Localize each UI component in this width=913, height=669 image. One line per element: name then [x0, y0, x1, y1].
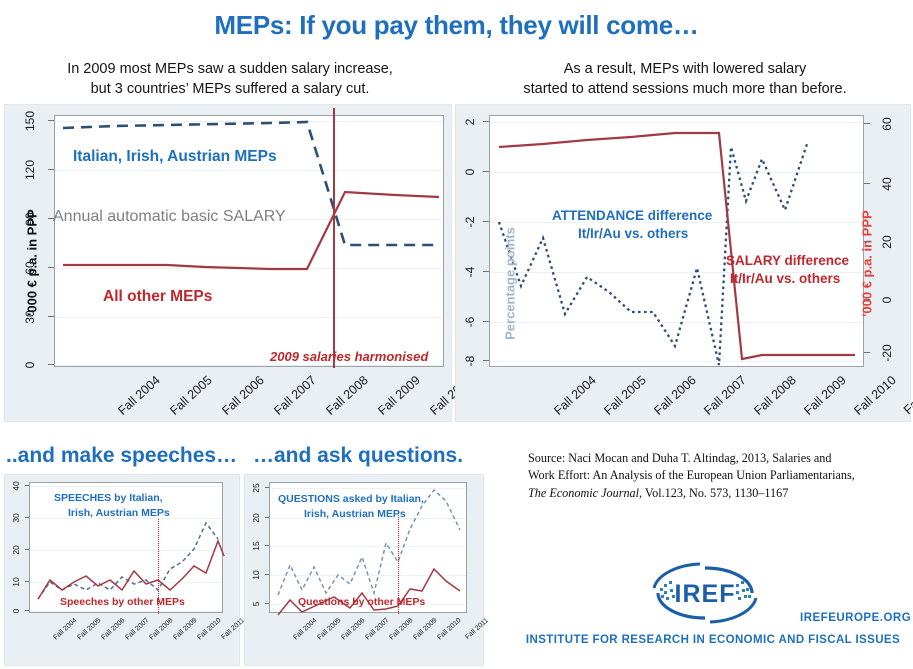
page-title: MEPs: If you pay them, they will come… [0, 10, 913, 41]
questions-xtick-4: Fall 2008 [388, 617, 414, 641]
attendance-plot-area: Percentage points '000 € p.a. in PPP ATT… [489, 115, 864, 367]
speeches-xtick-5: Fall 2009 [172, 617, 198, 641]
logo-wordmark: IREF [675, 580, 736, 608]
heading-speeches: ..and make speeches… [6, 444, 237, 468]
salary-xtick-0: Fall 2004 [115, 373, 163, 418]
source-line-1: Source: Naci Mocan and Duha T. Altindag,… [528, 450, 898, 467]
tickmark [864, 183, 870, 184]
subtitle-right: As a result, MEPs with lowered salary st… [470, 60, 900, 99]
source-citation: Source: Naci Mocan and Duha T. Altindag,… [528, 450, 898, 502]
series-line-speeches-other-meps [38, 541, 224, 599]
iref-logo[interactable]: IREF [640, 562, 770, 624]
attendance-xtick-4: Fall 2008 [751, 373, 799, 418]
annotation-questions-line1: QUESTIONS asked by Italian, [278, 493, 424, 505]
salary-plot-area: Italian, Irish, Austrian MEPs Annual aut… [54, 115, 444, 367]
attendance-right-axis-title: '000 € p.a. in PPP [860, 200, 875, 328]
tickmark [864, 352, 870, 353]
annotation-speeches-line2: Irish, Austrian MEPs [68, 507, 170, 519]
chart-panel-speeches: 40 30 20 10 0 SPEECHES by Italian, Irish… [4, 474, 240, 666]
series-line-italian-irish-austrian [63, 122, 439, 245]
speeches-xtick-3: Fall 2007 [124, 617, 150, 641]
series-line-all-other-meps [63, 192, 439, 269]
salary-xtick-3: Fall 2007 [271, 373, 319, 418]
annotation-all-other-meps: All other MEPs [103, 288, 212, 306]
speeches-xtick-2: Fall 2006 [100, 617, 126, 641]
logo-url[interactable]: IREFEUROPE.ORG [800, 612, 911, 624]
speeches-ytick-30: 30 [11, 509, 21, 527]
salary-diff-ytick-60: 60 [880, 111, 894, 137]
attendance-ytick--2: -2 [463, 209, 477, 235]
annotation-attendance-difference-line1: ATTENDANCE difference [552, 208, 712, 223]
tickmark [864, 241, 870, 242]
series-line-questions-italian-irish-austrian [278, 490, 460, 595]
speeches-plot-area: SPEECHES by Italian, Irish, Austrian MEP… [29, 482, 223, 613]
questions-ytick-5: 5 [251, 595, 261, 613]
speeches-ytick-0: 0 [11, 602, 21, 620]
salary-ytick-0: 0 [23, 352, 37, 378]
speeches-xtick-6: Fall 2010 [196, 617, 222, 641]
questions-plot-area: QUESTIONS asked by Italian, Irish, Austr… [269, 482, 467, 613]
speeches-ytick-10: 10 [11, 573, 21, 591]
annotation-speeches-line1: SPEECHES by Italian, [54, 492, 163, 504]
subtitle-left: In 2009 most MEPs saw a sudden salary in… [20, 60, 440, 99]
speeches-ytick-40: 40 [11, 477, 21, 495]
annotation-questions-line2: Irish, Austrian MEPs [304, 508, 406, 520]
salary-diff-ytick--20: -20 [880, 340, 894, 366]
attendance-ytick--8: -8 [463, 348, 477, 374]
attendance-ytick--4: -4 [463, 259, 477, 285]
annotation-italian-irish-austrian: Italian, Irish, Austrian MEPs [73, 148, 277, 166]
salary-ytick-30: 30 [23, 304, 37, 330]
speeches-xtick-4: Fall 2008 [148, 617, 174, 641]
speeches-xtick-7: Fall 2011 [220, 617, 246, 641]
chart-panel-salary-levels: '000 € p.a. in PPP 150 120 90 60 30 0 It… [4, 104, 452, 422]
questions-xtick-2: Fall 2006 [340, 617, 366, 641]
salary-ytick-120: 120 [23, 157, 37, 183]
questions-xtick-7: Fall 2011 [464, 617, 490, 641]
speeches-ytick-20: 20 [11, 541, 21, 559]
salary-diff-ytick-40: 40 [880, 171, 894, 197]
annotation-questions-other-meps: Questions by other MEPs [298, 596, 425, 608]
attendance-xtick-3: Fall 2007 [701, 373, 749, 418]
source-line-3-rest: , Vol.123, No. 573, 1130–1167 [639, 486, 788, 500]
tickmark [864, 299, 870, 300]
attendance-xtick-2: Fall 2006 [651, 373, 699, 418]
questions-xtick-5: Fall 2009 [412, 617, 438, 641]
salary-xtick-5: Fall 2009 [375, 373, 423, 418]
chart-panel-attendance-salary-difference: 2 0 -2 -4 -6 -8 Percentage points '000 €… [455, 104, 911, 422]
annotation-2009-salaries-harmonised: 2009 salaries harmonised [270, 349, 428, 364]
salary-diff-ytick-20: 20 [880, 229, 894, 255]
chart-panel-questions: 25 20 15 10 5 QUESTIONS asked by Italian… [244, 474, 484, 666]
attendance-ytick-2: 2 [463, 109, 477, 135]
attendance-ytick--6: -6 [463, 309, 477, 335]
speeches-xtick-1: Fall 2005 [76, 617, 102, 641]
attendance-ytick-0: 0 [463, 159, 477, 185]
speeches-xtick-0: Fall 2004 [52, 617, 78, 641]
questions-xtick-6: Fall 2010 [436, 617, 462, 641]
attendance-left-axis-title: Percentage points [503, 222, 518, 346]
subtitle-left-line-2: but 3 countries’ MEPs suffered a salary … [20, 80, 440, 100]
attendance-xtick-7: Fall 2011 [901, 373, 913, 417]
attendance-xtick-5: Fall 2009 [801, 373, 849, 418]
salary-xtick-1: Fall 2005 [167, 373, 215, 418]
subtitle-right-line-1: As a result, MEPs with lowered salary [470, 60, 900, 80]
attendance-xtick-0: Fall 2004 [551, 373, 599, 418]
annotation-annual-basic-salary: Annual automatic basic SALARY [53, 208, 286, 226]
source-journal-name: The Economic Journal [528, 486, 639, 500]
series-line-salary-difference [499, 133, 855, 359]
source-line-3: The Economic Journal, Vol.123, No. 573, … [528, 485, 898, 502]
subtitle-left-line-1: In 2009 most MEPs saw a sudden salary in… [20, 60, 440, 80]
annotation-attendance-difference-line2: It/Ir/Au vs. others [578, 226, 688, 241]
tickmark [864, 123, 870, 124]
heading-questions: …and ask questions. [253, 444, 463, 468]
questions-ytick-25: 25 [251, 479, 261, 497]
salary-ytick-150: 150 [23, 108, 37, 134]
annotation-salary-difference-line2: It/Ir/Au vs. others [730, 271, 840, 286]
questions-xtick-3: Fall 2007 [364, 617, 390, 641]
attendance-xtick-1: Fall 2005 [601, 373, 649, 418]
logo-tagline: INSTITUTE FOR RESEARCH IN ECONOMIC AND F… [518, 634, 908, 646]
salary-ytick-60: 60 [23, 255, 37, 281]
attendance-xtick-6: Fall 2010 [851, 373, 899, 418]
event-line-2009-harmonised [333, 108, 335, 368]
annotation-speeches-other-meps: Speeches by other MEPs [60, 596, 185, 608]
series-line-questions-other-meps [278, 569, 460, 615]
salary-xtick-4: Fall 2008 [323, 373, 371, 418]
subtitle-right-line-2: started to attend sessions much more tha… [470, 80, 900, 100]
salary-ytick-90: 90 [23, 206, 37, 232]
questions-xtick-1: Fall 2005 [316, 617, 342, 641]
source-line-2: Work Effort: An Analysis of the European… [528, 467, 898, 484]
questions-ytick-15: 15 [251, 537, 261, 555]
questions-ytick-10: 10 [251, 566, 261, 584]
annotation-salary-difference-line1: SALARY difference [726, 253, 849, 268]
salary-xtick-2: Fall 2006 [219, 373, 267, 418]
questions-ytick-20: 20 [251, 509, 261, 527]
questions-xtick-0: Fall 2004 [292, 617, 318, 641]
salary-diff-ytick-0: 0 [880, 287, 894, 313]
